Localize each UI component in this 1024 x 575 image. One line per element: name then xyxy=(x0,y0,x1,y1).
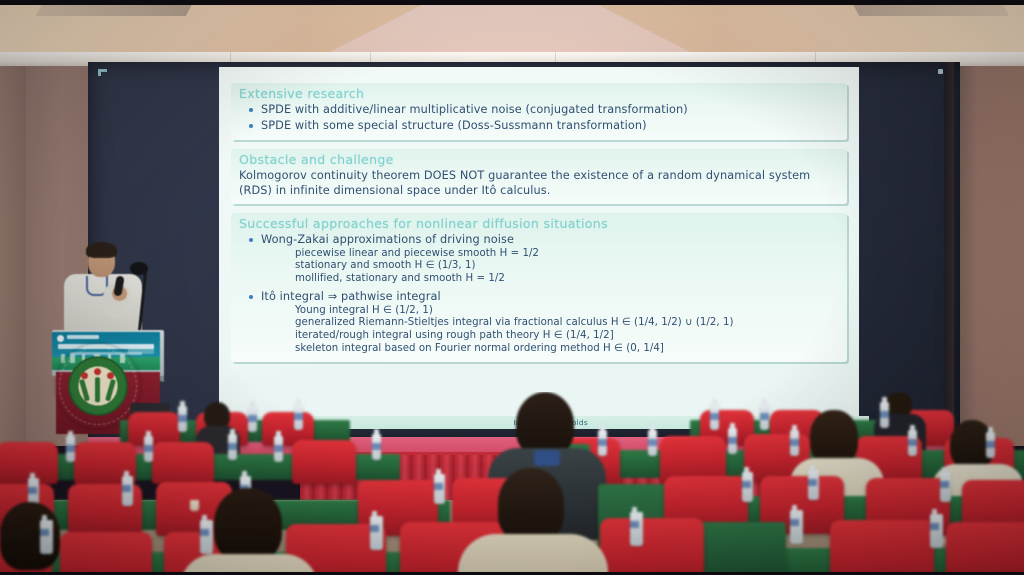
ceiling-light-left xyxy=(0,0,300,56)
subline: skeleton integral based on Fourier norma… xyxy=(295,343,841,356)
wall-left-panel xyxy=(0,66,26,446)
block-title: Extensive research xyxy=(239,86,841,101)
letterbox-top xyxy=(0,0,1024,5)
water-bottle xyxy=(648,430,657,456)
water-bottle xyxy=(880,402,889,428)
water-bottle xyxy=(790,430,799,456)
screen-corner-marker-icon xyxy=(98,69,107,76)
wall-right-panel xyxy=(952,66,1024,446)
block-title: Successful approaches for nonlinear diff… xyxy=(239,216,841,231)
block-title: Obstacle and challenge xyxy=(239,152,841,167)
water-bottle xyxy=(372,434,381,460)
water-bottle xyxy=(370,516,383,550)
slide-block-obstacle-and-challenge: Obstacle and challenge Kolmogorov contin… xyxy=(231,149,847,204)
water-bottle xyxy=(66,436,75,462)
slide-block-extensive-research: Extensive research SPDE with additive/li… xyxy=(231,83,847,140)
water-bottle xyxy=(760,404,769,430)
water-bottle xyxy=(144,436,153,462)
bullet-item: SPDE with some special structure (Doss-S… xyxy=(261,119,841,134)
glasses-icon xyxy=(90,256,113,261)
block-body: SPDE with additive/linear multiplicative… xyxy=(239,103,841,133)
water-bottle xyxy=(790,510,803,544)
water-bottle xyxy=(742,472,753,502)
water-bottle xyxy=(598,430,607,456)
chair xyxy=(292,440,356,484)
water-bottle xyxy=(908,430,917,456)
block-paragraph: Kolmogorov continuity theorem DOES NOT g… xyxy=(239,169,841,198)
water-bottle xyxy=(178,406,187,432)
bullet-item: SPDE with additive/linear multiplicative… xyxy=(261,103,841,118)
screen-dot-marker-icon xyxy=(938,69,943,74)
chair xyxy=(830,520,934,575)
water-bottle xyxy=(122,476,133,506)
chair xyxy=(946,522,1024,575)
chair xyxy=(128,412,180,446)
subline: iterated/rough integral using rough path… xyxy=(295,330,841,343)
projected-slide: Extensive research SPDE with additive/li… xyxy=(219,67,859,427)
subline: stationary and smooth H ∈ (1/3, 1) xyxy=(295,260,841,273)
slide-block-successful-approaches: Successful approaches for nonlinear diff… xyxy=(231,213,847,362)
water-bottle xyxy=(274,436,283,462)
banner-logo-icon xyxy=(57,335,64,342)
water-bottle xyxy=(728,428,737,454)
subline: piecewise linear and piecewise smooth H … xyxy=(295,248,841,261)
chair xyxy=(60,532,152,575)
water-bottle xyxy=(710,404,719,430)
subline: generalized Riemann-Stieltjes integral v… xyxy=(295,317,841,330)
water-bottle xyxy=(200,520,213,554)
banner-logo-text xyxy=(67,335,99,339)
water-bottle xyxy=(986,432,995,458)
bullet-item: Wong-Zakai approximations of driving noi… xyxy=(261,233,841,285)
projection-screen-edge xyxy=(944,62,954,440)
subline: Young integral H ∈ (1/2, 1) xyxy=(295,305,841,318)
chair xyxy=(600,518,704,575)
ceiling-panel-center xyxy=(330,0,690,52)
microphone-icon xyxy=(130,262,148,275)
water-bottle xyxy=(940,472,951,502)
chair xyxy=(690,522,786,575)
paper-cup xyxy=(190,500,199,511)
banner-right-text xyxy=(128,345,154,354)
block-body: Wong-Zakai approximations of driving noi… xyxy=(239,233,841,355)
water-bottle xyxy=(228,434,237,460)
subline: mollified, stationary and smooth H = 1/2 xyxy=(295,273,841,286)
ceiling-light-right xyxy=(724,0,1024,56)
bullet-label: Itô integral ⇒ pathwise integral xyxy=(261,290,441,303)
bullet-item: Itô integral ⇒ pathwise integral Young i… xyxy=(261,290,841,355)
audience-area xyxy=(0,392,1024,575)
ceiling xyxy=(0,0,1024,56)
bullet-label: Wong-Zakai approximations of driving noi… xyxy=(261,233,514,246)
water-bottle xyxy=(294,404,303,430)
water-bottle xyxy=(40,520,53,554)
water-bottle xyxy=(808,470,819,500)
conference-scene: Extensive research SPDE with additive/li… xyxy=(0,0,1024,575)
water-bottle xyxy=(930,514,943,548)
water-bottle xyxy=(630,512,643,546)
chair xyxy=(152,442,214,484)
water-bottle xyxy=(248,406,257,432)
water-bottle xyxy=(434,474,445,504)
